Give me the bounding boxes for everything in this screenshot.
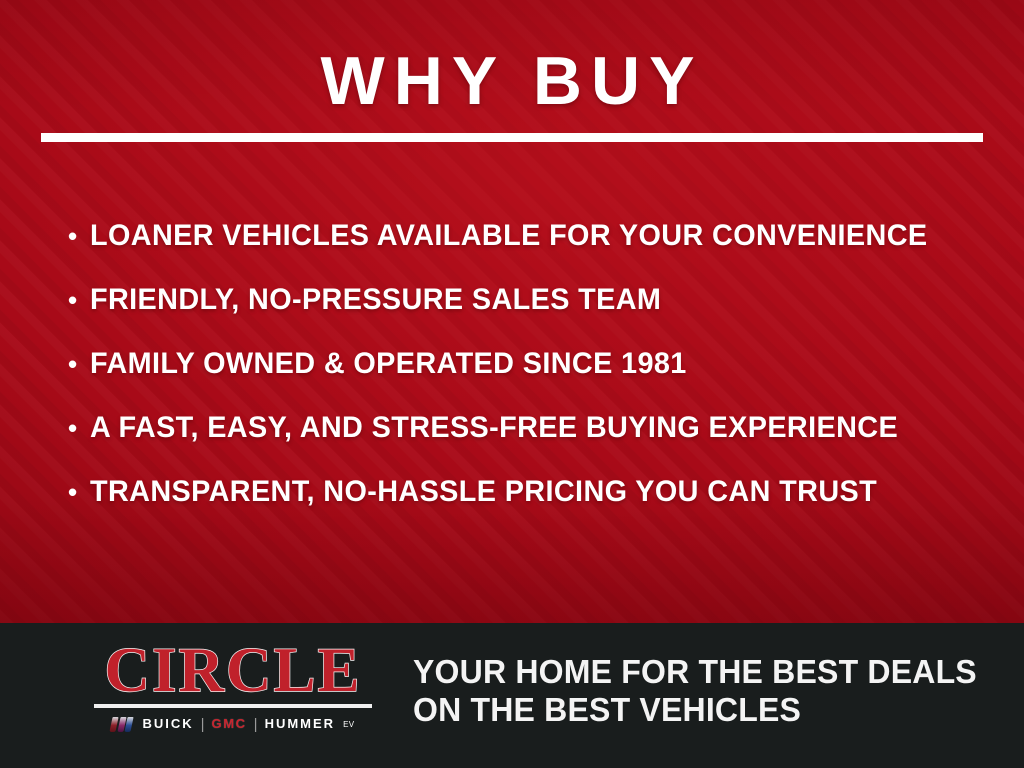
dealer-tagline: YOUR HOME FOR THE BEST DEALS ON THE BEST…: [413, 653, 977, 729]
benefits-list: • LOANER VEHICLES AVAILABLE FOR YOUR CON…: [68, 218, 988, 538]
bullet-dot-icon: •: [68, 474, 90, 510]
benefit-text: LOANER VEHICLES AVAILABLE FOR YOUR CONVE…: [90, 218, 952, 254]
title-divider: [41, 133, 983, 142]
bullet-dot-icon: •: [68, 410, 90, 446]
dealer-wordmark: CIRCLE: [88, 639, 378, 701]
list-item: • A FAST, EASY, AND STRESS-FREE BUYING E…: [68, 410, 988, 474]
why-buy-slide: WHY BUY • LOANER VEHICLES AVAILABLE FOR …: [0, 0, 1024, 768]
benefit-text: FRIENDLY, NO-PRESSURE SALES TEAM: [90, 282, 952, 318]
buick-tri-shield-icon: [111, 717, 132, 732]
list-item: • FRIENDLY, NO-PRESSURE SALES TEAM: [68, 282, 988, 346]
list-item: • TRANSPARENT, NO-HASSLE PRICING YOU CAN…: [68, 474, 988, 538]
brand-separator: |: [254, 717, 258, 732]
hero-panel: WHY BUY • LOANER VEHICLES AVAILABLE FOR …: [0, 0, 1024, 623]
brand-separator: |: [201, 717, 205, 732]
list-item: • FAMILY OWNED & OPERATED SINCE 1981: [68, 346, 988, 410]
brand-gmc-label: GMC: [212, 716, 247, 732]
tagline-line-2: ON THE BEST VEHICLES: [413, 691, 977, 729]
bullet-dot-icon: •: [68, 346, 90, 382]
brand-hummer-ev-suffix: EV: [343, 720, 354, 729]
benefit-text: A FAST, EASY, AND STRESS-FREE BUYING EXP…: [90, 410, 952, 446]
bullet-dot-icon: •: [68, 282, 90, 318]
list-item: • LOANER VEHICLES AVAILABLE FOR YOUR CON…: [68, 218, 988, 282]
brand-buick-label: BUICK: [142, 716, 193, 732]
page-title: WHY BUY: [0, 46, 1024, 116]
benefit-text: TRANSPARENT, NO-HASSLE PRICING YOU CAN T…: [90, 474, 952, 510]
benefit-text: FAMILY OWNED & OPERATED SINCE 1981: [90, 346, 952, 382]
footer-bar: CIRCLE BUICK | GMC | HUMMER EV YOUR HOME…: [0, 623, 1024, 768]
tagline-line-1: YOUR HOME FOR THE BEST DEALS: [413, 653, 977, 691]
bullet-dot-icon: •: [68, 218, 90, 254]
brand-strip: BUICK | GMC | HUMMER EV: [88, 714, 378, 734]
dealer-logo: CIRCLE BUICK | GMC | HUMMER EV: [88, 639, 378, 734]
brand-hummer-label: HUMMER: [265, 716, 336, 732]
